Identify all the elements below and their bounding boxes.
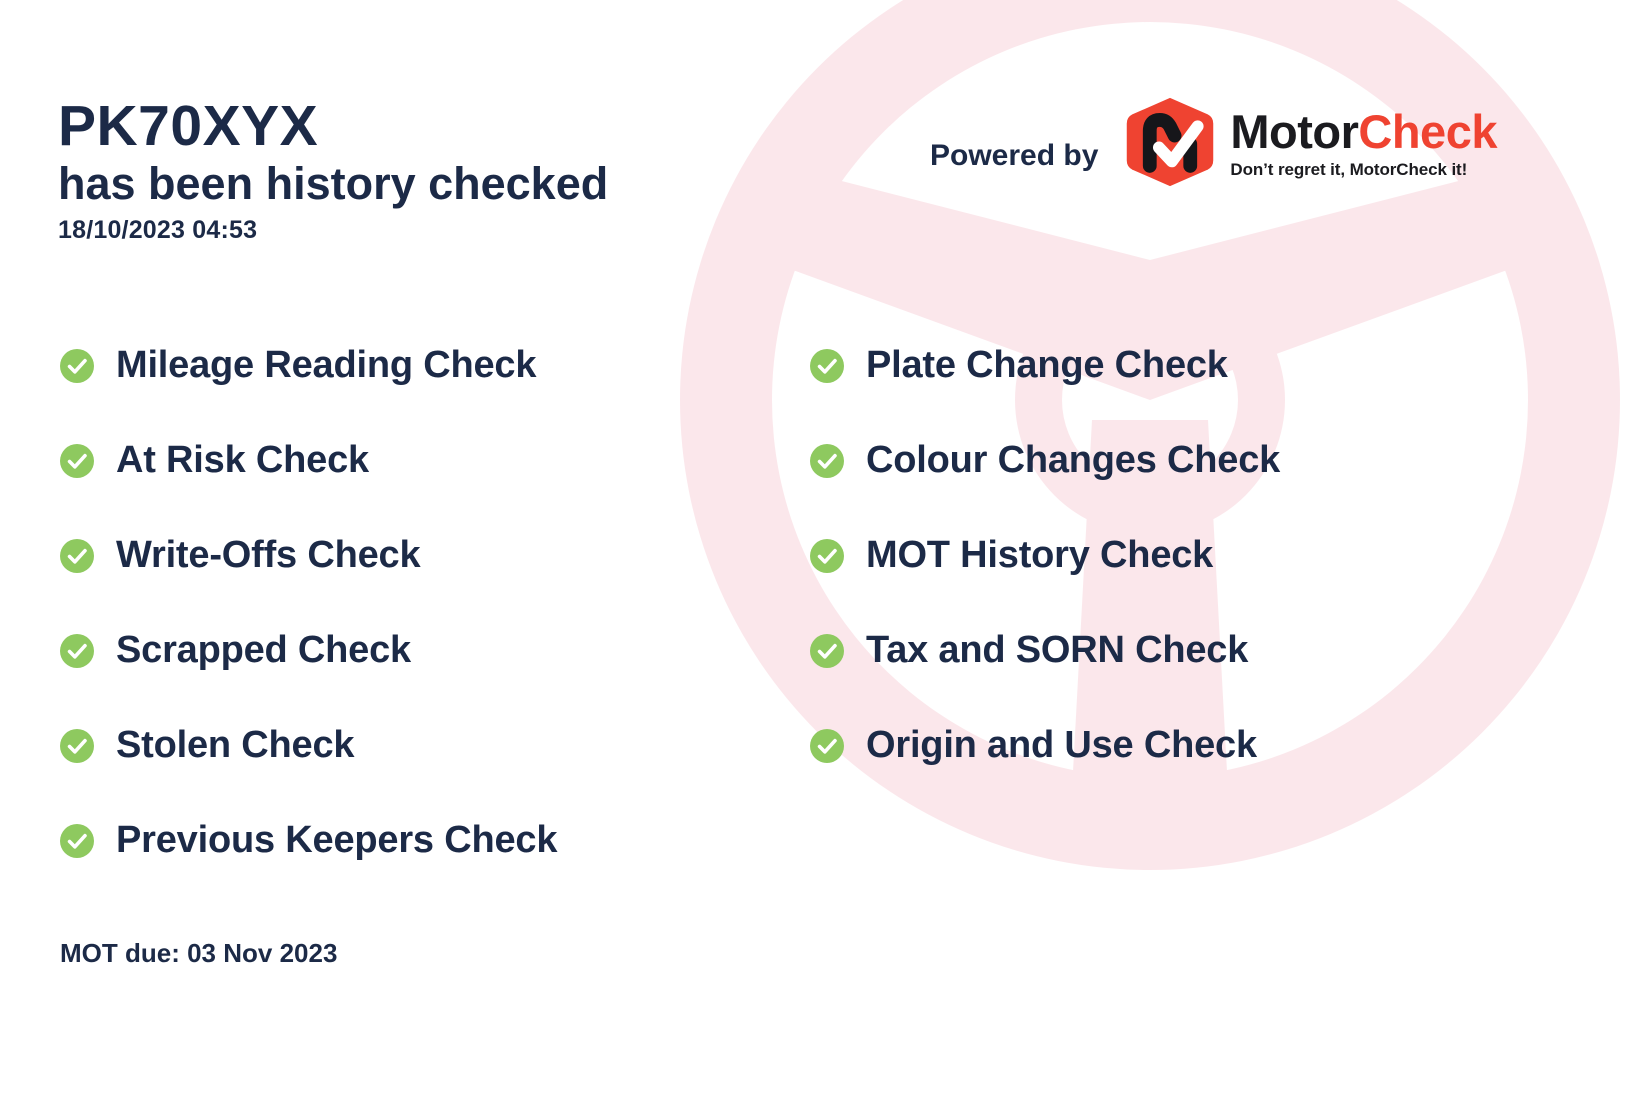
green-check-circle-icon xyxy=(810,729,844,763)
page-title: has been history checked xyxy=(58,158,608,210)
check-item: Scrapped Check xyxy=(60,603,557,698)
motorcheck-hexagon-m-icon xyxy=(1124,96,1216,188)
check-item: At Risk Check xyxy=(60,413,557,508)
check-label: MOT History Check xyxy=(866,534,1213,577)
check-label: Previous Keepers Check xyxy=(116,819,557,862)
powered-by-block: Powered by MotorCheck Don’t regret it, M… xyxy=(930,96,1497,188)
check-label: Colour Changes Check xyxy=(866,439,1280,482)
check-item: Colour Changes Check xyxy=(810,413,1280,508)
check-item: Stolen Check xyxy=(60,698,557,793)
green-check-circle-icon xyxy=(810,444,844,478)
check-item: MOT History Check xyxy=(810,508,1280,603)
check-label: Write-Offs Check xyxy=(116,534,420,577)
check-item: Origin and Use Check xyxy=(810,698,1280,793)
check-timestamp: 18/10/2023 04:53 xyxy=(58,216,608,245)
motorcheck-wordmark: MotorCheck Don’t regret it, MotorCheck i… xyxy=(1230,104,1497,180)
green-check-circle-icon xyxy=(60,729,94,763)
report-header: PK70XYX has been history checked 18/10/2… xyxy=(58,96,608,245)
check-item: Write-Offs Check xyxy=(60,508,557,603)
check-item: Mileage Reading Check xyxy=(60,318,557,413)
checks-column-right: Plate Change Check Colour Changes Check … xyxy=(810,318,1280,793)
green-check-circle-icon xyxy=(60,349,94,383)
wordmark-motor: Motor xyxy=(1230,105,1358,158)
green-check-circle-icon xyxy=(810,539,844,573)
check-item: Tax and SORN Check xyxy=(810,603,1280,698)
checks-column-left: Mileage Reading Check At Risk Check Writ… xyxy=(60,318,557,888)
green-check-circle-icon xyxy=(60,634,94,668)
check-item: Plate Change Check xyxy=(810,318,1280,413)
check-label: Plate Change Check xyxy=(866,344,1228,387)
mot-due-text: MOT due: 03 Nov 2023 xyxy=(60,938,337,969)
check-label: Tax and SORN Check xyxy=(866,629,1248,672)
check-label: Mileage Reading Check xyxy=(116,344,536,387)
check-label: Origin and Use Check xyxy=(866,724,1257,767)
vehicle-registration: PK70XYX xyxy=(58,96,608,156)
green-check-circle-icon xyxy=(810,349,844,383)
green-check-circle-icon xyxy=(60,539,94,573)
green-check-circle-icon xyxy=(810,634,844,668)
powered-by-label: Powered by xyxy=(930,139,1098,173)
motorcheck-logo[interactable]: MotorCheck Don’t regret it, MotorCheck i… xyxy=(1124,96,1497,188)
brand-tagline: Don’t regret it, MotorCheck it! xyxy=(1230,160,1497,180)
green-check-circle-icon xyxy=(60,824,94,858)
report-card: PK70XYX has been history checked 18/10/2… xyxy=(0,0,1650,1100)
green-check-circle-icon xyxy=(60,444,94,478)
wordmark-text: MotorCheck xyxy=(1230,108,1497,155)
wordmark-check: Check xyxy=(1358,105,1497,158)
check-label: Scrapped Check xyxy=(116,629,411,672)
check-label: Stolen Check xyxy=(116,724,354,767)
check-label: At Risk Check xyxy=(116,439,369,482)
check-item: Previous Keepers Check xyxy=(60,793,557,888)
